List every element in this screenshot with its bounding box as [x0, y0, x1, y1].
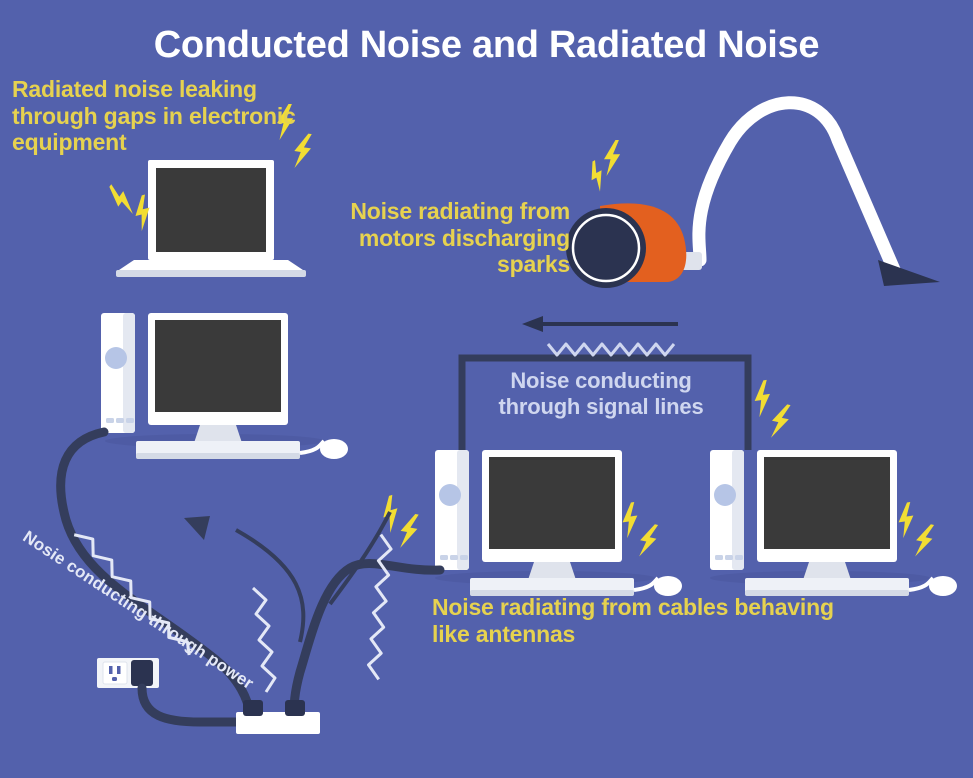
desktop-right-graphic — [710, 450, 957, 596]
wall-outlet-graphic — [97, 658, 159, 688]
power-strip-graphic — [236, 700, 320, 734]
infographic-canvas: Conducted Noise and Radiated Noise Radia… — [0, 0, 973, 778]
label-signal-lines: Noise conducting through signal lines — [468, 368, 734, 421]
vacuum-cleaner-graphic — [566, 103, 940, 288]
label-cable-antennas: Noise radiating from cables behaving lik… — [432, 594, 852, 647]
desktop-left-graphic — [101, 313, 348, 459]
label-motor-sparks: Noise radiating from motors discharging … — [300, 198, 570, 278]
page-title: Conducted Noise and Radiated Noise — [0, 26, 973, 66]
label-radiated-noise-gaps: Radiated noise leaking through gaps in e… — [12, 76, 332, 156]
